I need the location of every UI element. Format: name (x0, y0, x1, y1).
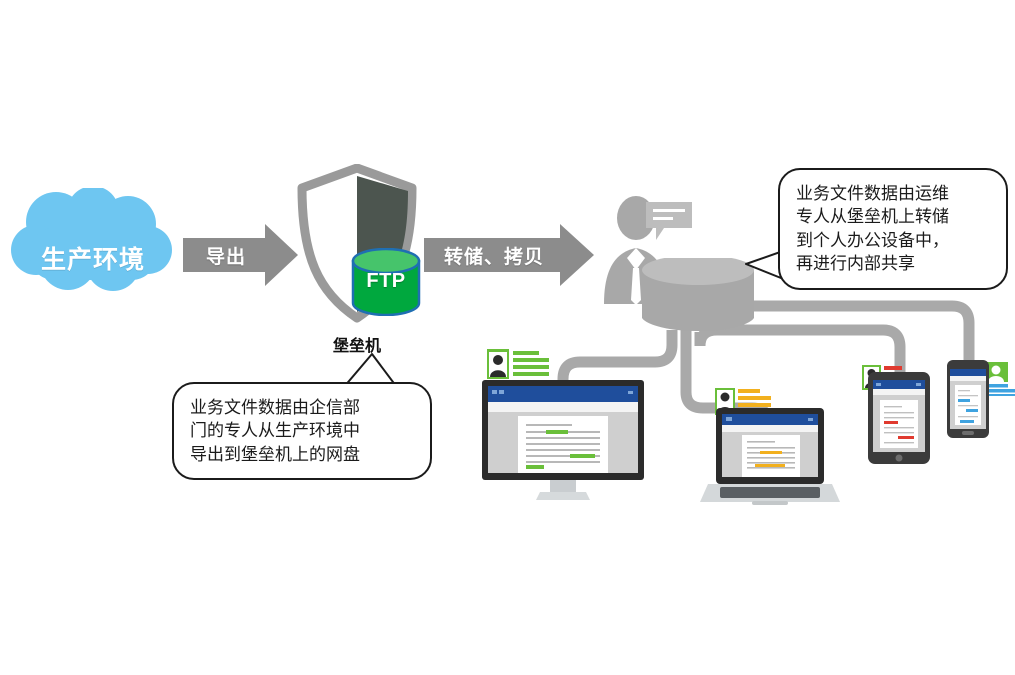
ftp-label: FTP (351, 270, 421, 293)
arrow-export-label: 导出 (183, 222, 269, 288)
ftp-storage-cylinder: FTP (351, 248, 421, 316)
speech-bubble-icon (644, 198, 694, 244)
device-desktop-monitor (478, 378, 648, 504)
production-environment-cloud: 生产环境 (8, 188, 178, 298)
cloud-label: 生产环境 (8, 240, 178, 276)
device-laptop (700, 408, 840, 511)
device-smartphone (947, 360, 989, 438)
callout-transfer-to-devices: 业务文件数据由运维 专人从堡垒机上转储 到个人办公设备中， 再进行内部共享 (778, 168, 1008, 290)
device-tablet (868, 372, 930, 464)
connection-pipes (0, 0, 1015, 675)
diagram-canvas: 生产环境 导出 FTP 堡垒机 转储、拷贝 (0, 0, 1015, 675)
bastion-host-label: 堡垒机 (292, 332, 422, 356)
callout-export-to-bastion: 业务文件数据由企信部 门的专人从生产环境中 导出到堡垒机上的网盘 (172, 382, 432, 480)
arrow-export: 导出 (183, 222, 298, 288)
arrow-transfer-copy-label: 转储、拷贝 (424, 222, 564, 288)
arrow-transfer-copy: 转储、拷贝 (424, 222, 594, 288)
data-hub-cylinder (640, 258, 756, 338)
